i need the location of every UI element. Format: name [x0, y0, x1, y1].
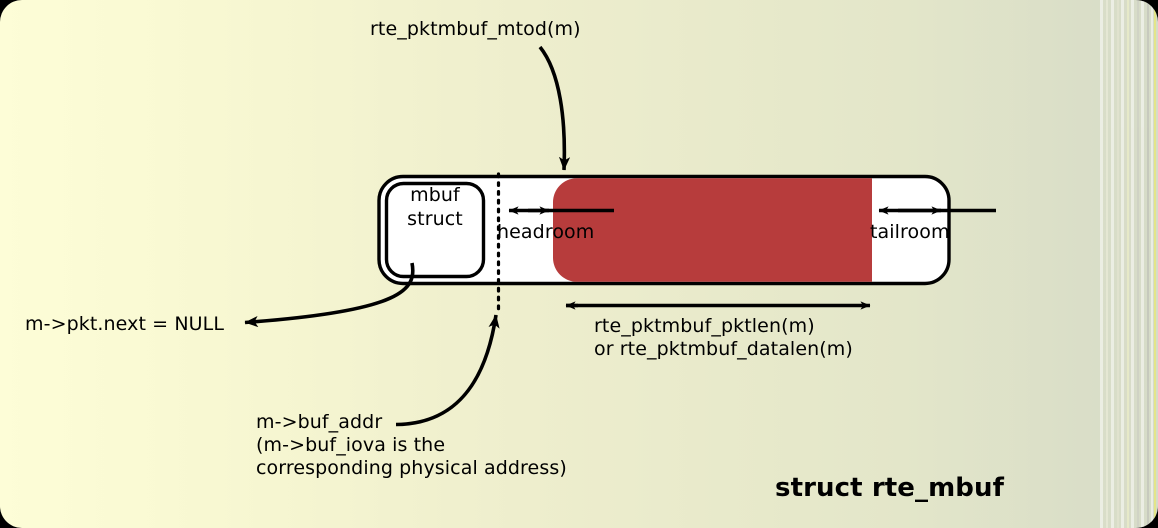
pktlen-label-line2: or rte_pktmbuf_datalen(m): [594, 338, 853, 361]
mbuf-struct-label-line2: struct: [400, 208, 470, 231]
buf-addr-pointer-arrow: [396, 315, 496, 425]
mbuf-struct-label-line1: mbuf: [400, 184, 470, 207]
buf-addr-label-line2: (m->buf_iova is the: [256, 434, 445, 457]
pkt-next-label: m->pkt.next = NULL: [25, 313, 224, 336]
mtod-label: rte_pktmbuf_mtod(m): [370, 18, 581, 41]
diagram-artwork: [0, 0, 1158, 528]
diagram-title: struct rte_mbuf: [775, 477, 1004, 500]
data-region-block: [553, 178, 872, 282]
diagram-canvas: rte_pktmbuf_mtod(m) mbuf struct headroom…: [0, 0, 1158, 528]
buf-addr-label-line1: m->buf_addr: [256, 411, 382, 434]
buf-addr-label-line3: corresponding physical address): [256, 457, 567, 480]
mtod-pointer-arrow: [540, 47, 564, 170]
headroom-label: headroom: [497, 221, 594, 244]
pktlen-label-line1: rte_pktmbuf_pktlen(m): [594, 315, 815, 338]
tailroom-label: tailroom: [870, 221, 950, 244]
